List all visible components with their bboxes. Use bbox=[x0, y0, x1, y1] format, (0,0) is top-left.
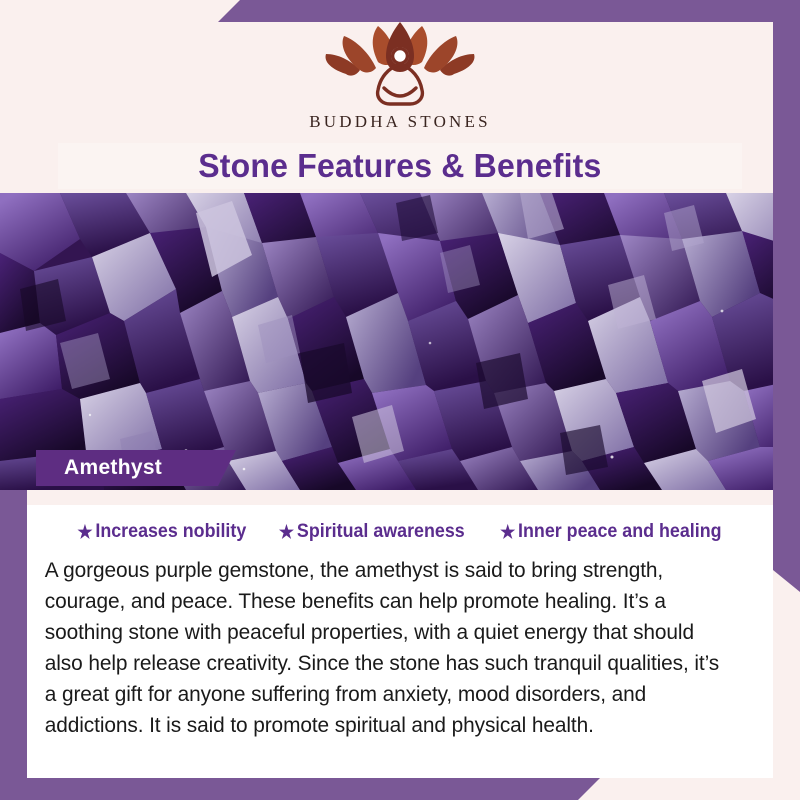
stone-name-label: Amethyst bbox=[36, 456, 162, 480]
lotus-meditation-figure-icon bbox=[316, 18, 484, 110]
benefits-list: ★ Increases nobility ★ Spiritual awarene… bbox=[37, 521, 763, 543]
amethyst-hero-image bbox=[0, 193, 800, 490]
page-title-text: Stone Features & Benefits bbox=[198, 147, 601, 185]
star-icon: ★ bbox=[500, 523, 515, 541]
benefit-label: Increases nobility bbox=[95, 521, 246, 543]
stone-details-card: ★ Increases nobility ★ Spiritual awarene… bbox=[27, 505, 773, 778]
brand-name: BUDDHA STONES bbox=[309, 112, 491, 132]
stone-name-banner: Amethyst bbox=[36, 450, 236, 486]
stone-description: A gorgeous purple gemstone, the amethyst… bbox=[37, 555, 741, 741]
frame-band-left bbox=[0, 490, 27, 778]
benefit-label: Inner peace and healing bbox=[518, 521, 721, 543]
stone-info-card: BUDDHA STONES Stone Features & Benefits … bbox=[0, 0, 800, 800]
brand-logo: BUDDHA STONES bbox=[0, 18, 800, 132]
star-icon: ★ bbox=[279, 523, 294, 541]
frame-band-bottom bbox=[0, 778, 600, 800]
page-title: Stone Features & Benefits bbox=[58, 143, 742, 189]
benefit-label: Spiritual awareness bbox=[297, 521, 465, 543]
benefit-item: ★ Inner peace and healing bbox=[500, 521, 721, 543]
benefit-item: ★ Increases nobility bbox=[77, 521, 246, 543]
benefit-item: ★ Spiritual awareness bbox=[279, 521, 465, 543]
star-icon: ★ bbox=[77, 523, 92, 541]
